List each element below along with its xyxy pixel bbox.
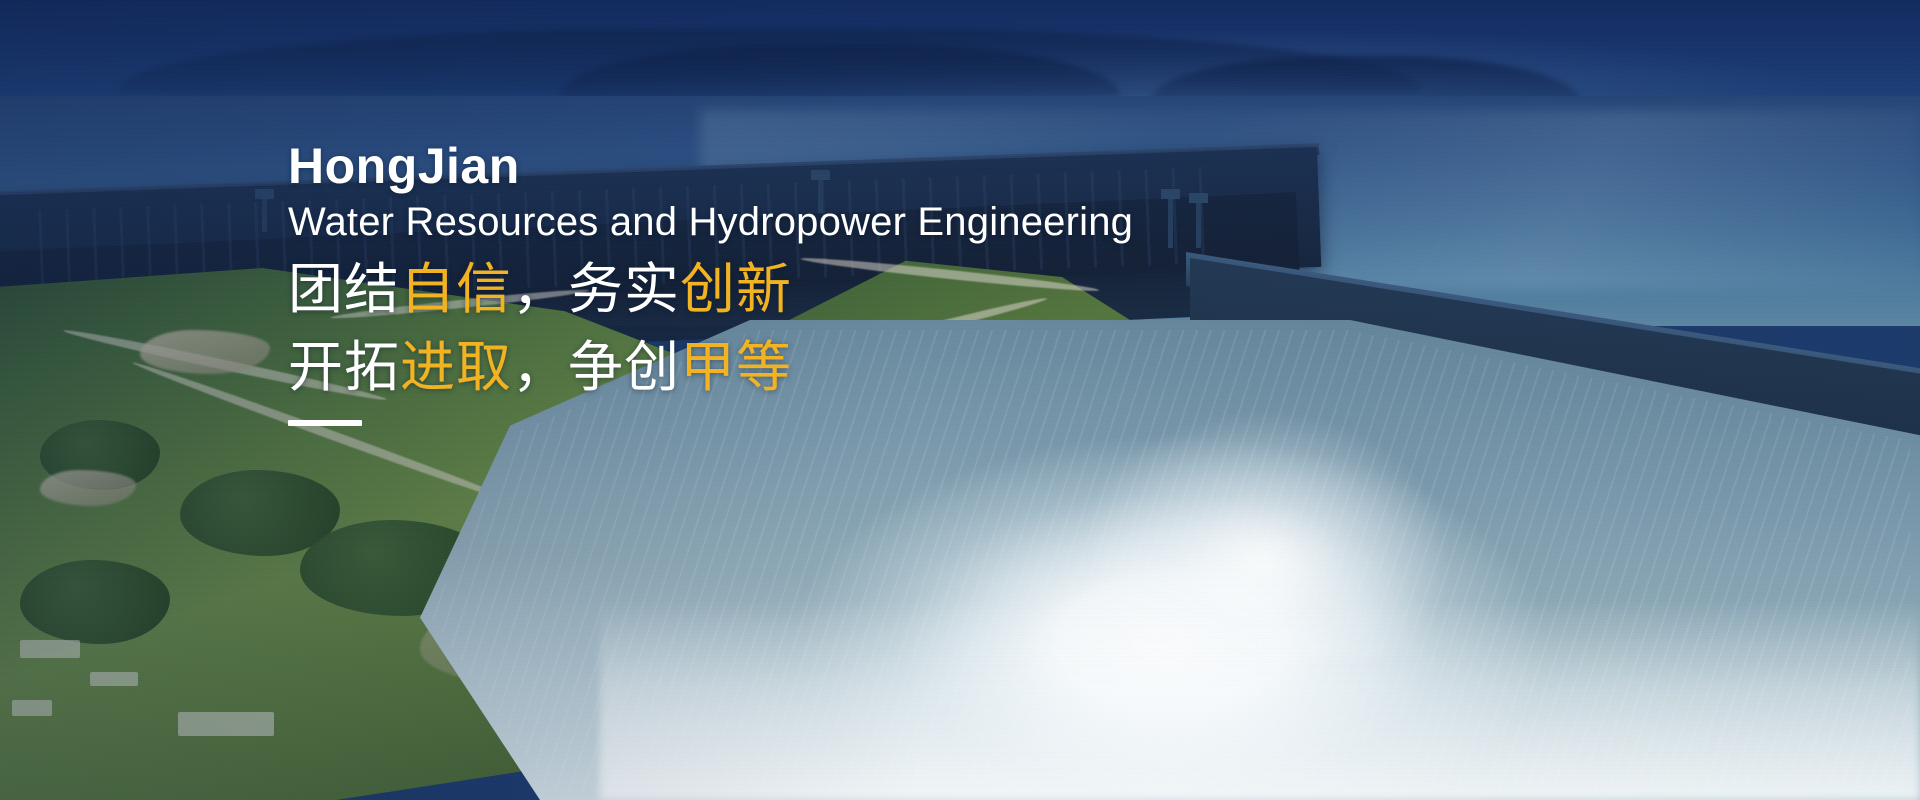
slogan-2-segment-gold-b: 甲等 [680,335,792,399]
slogan-line-1: 团结自信，务实创新 [288,250,1388,328]
village-buildings-3 [178,712,274,736]
slogan-2-segment-gold-a: 进取 [400,335,512,399]
hero-banner: HongJian Water Resources and Hydropower … [0,0,1920,800]
decorative-underline-rule [288,420,362,426]
brand-name: HongJian [288,140,1388,193]
village-buildings-1 [20,640,80,658]
slogan-1-segment-gold-a: 自信 [400,257,512,321]
slogan-line-2: 开拓进取，争创甲等 [288,328,1388,406]
tree-grove-4 [20,560,170,644]
hero-copy-block: HongJian Water Resources and Hydropower … [288,140,1388,426]
dam-pylon-1 [262,196,267,232]
village-buildings-4 [12,700,52,716]
foreground-mist [600,600,1920,800]
slogan-2-segment-white-b: ，争创 [512,335,680,399]
slogan-1-segment-white-a: 团结 [288,257,400,321]
slogan-2-segment-white-a: 开拓 [288,335,400,399]
slogan-1-segment-gold-b: 创新 [680,257,792,321]
brand-subtitle: Water Resources and Hydropower Engineeri… [288,199,1388,246]
village-buildings-2 [90,672,138,686]
slogan-1-segment-white-b: ，务实 [512,257,680,321]
